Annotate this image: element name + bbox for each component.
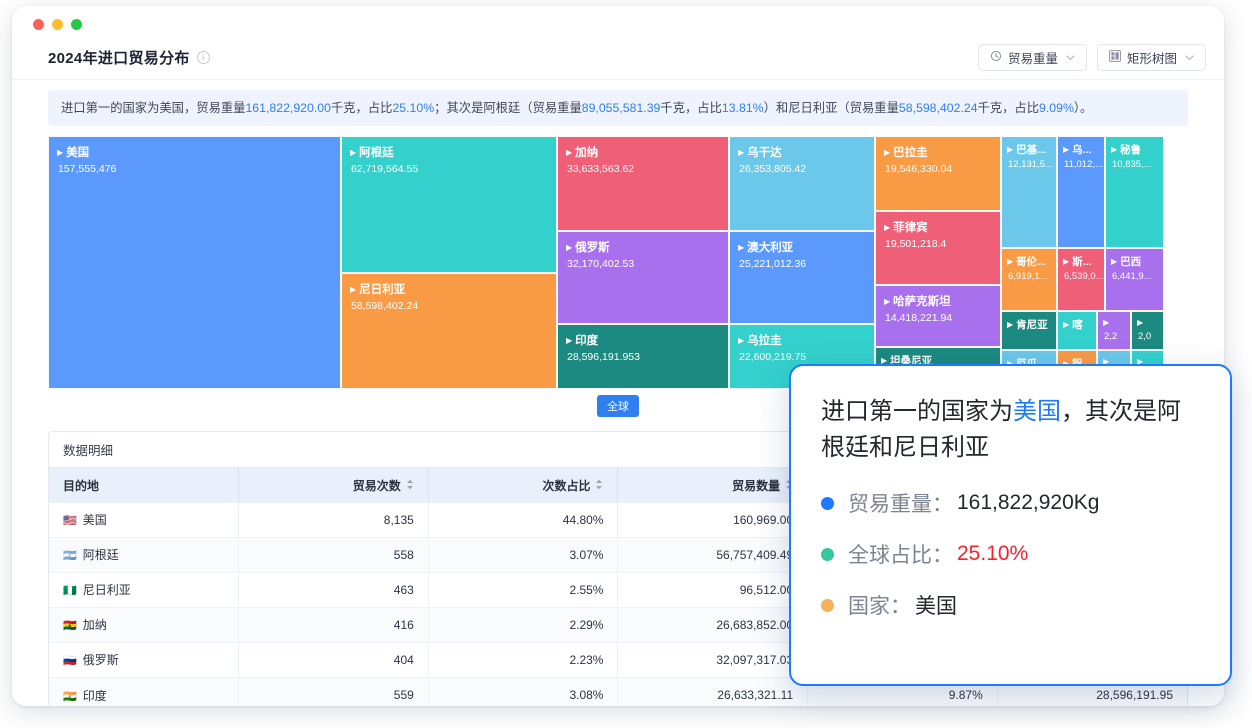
treemap-tile-value: 10,835,... xyxy=(1106,157,1163,170)
treemap-tile[interactable]: ▶乌干达26,353,805.42 xyxy=(729,136,875,231)
tooltip-title-highlight: 美国 xyxy=(1013,398,1061,425)
treemap-tile[interactable]: ▶乌...11,012,... xyxy=(1057,136,1105,248)
treemap-tile-label: ▶乌干达 xyxy=(730,137,874,160)
banner-value-3: 89,055,581.39 xyxy=(582,101,661,115)
expand-triangle-icon[interactable]: ▶ xyxy=(1137,318,1143,327)
treemap-tile[interactable]: ▶巴西6,441,9... xyxy=(1105,248,1164,311)
tooltip-metric-row: 全球占比：25.10% xyxy=(821,539,1200,569)
treemap-tile-label: ▶秘鲁 xyxy=(1106,137,1163,157)
treemap-tile-value: 26,353,805.42 xyxy=(730,160,874,175)
cell-count-pct: 2.29% xyxy=(428,607,618,642)
cell-trade-count: 8,135 xyxy=(239,502,429,537)
banner-seg-7: ）。 xyxy=(1074,101,1092,115)
expand-triangle-icon[interactable]: ▶ xyxy=(350,285,356,294)
expand-triangle-icon[interactable]: ▶ xyxy=(1063,257,1069,266)
treemap-tile-label: ▶喀 xyxy=(1058,312,1096,332)
treemap-tile-label: ▶阿根廷 xyxy=(342,137,556,160)
minimize-window-button[interactable] xyxy=(52,19,63,30)
tooltip-bullet-icon xyxy=(821,548,834,561)
treemap-tile-label: ▶ xyxy=(1098,312,1130,329)
cell-destination: 🇮🇳印度 xyxy=(49,677,239,706)
banner-seg-6: 千克，占比 xyxy=(978,101,1040,115)
table-column-header[interactable]: 贸易数量 xyxy=(618,468,808,502)
treemap-tile[interactable]: ▶斯...6,539,0... xyxy=(1057,248,1105,311)
close-window-button[interactable] xyxy=(33,19,44,30)
time-icon xyxy=(990,50,1002,65)
treemap-tile-value: 14,418,221.94 xyxy=(876,309,1000,324)
banner-value-4: 13.81% xyxy=(722,101,764,115)
treemap-tile[interactable]: ▶巴拉圭19,546,330.04 xyxy=(875,136,1001,211)
treemap-tile-label: ▶ xyxy=(1132,312,1163,329)
tooltip-metric-value: 25.10% xyxy=(957,542,1028,566)
banner-value-5: 58,598,402.24 xyxy=(899,101,978,115)
banner-seg-2: 千克，占比 xyxy=(331,101,393,115)
cell-destination: 🇬🇭加纳 xyxy=(49,607,239,642)
chart-type-selector-label: 矩形树图 xyxy=(1127,48,1177,67)
cell-trade-count: 559 xyxy=(239,677,429,706)
cell-trade-count: 558 xyxy=(239,537,429,572)
treemap-tile-label: ▶印度 xyxy=(558,325,728,348)
country-flag-icon: 🇬🇭 xyxy=(63,620,77,632)
chart-tooltip: 进口第一的国家为美国，其次是阿根廷和尼日利亚 贸易重量：161,822,920K… xyxy=(789,364,1232,686)
treemap-tile[interactable]: ▶印度28,596,191.953 xyxy=(557,324,729,389)
expand-triangle-icon[interactable]: ▶ xyxy=(1007,257,1013,266)
treemap-tile-label: ▶加纳 xyxy=(558,137,728,160)
treemap-tile[interactable]: ▶阿根廷62,719,564.55 xyxy=(341,136,557,273)
treemap-tile[interactable]: ▶尼日利亚58,598,402.24 xyxy=(341,273,557,389)
country-flag-icon: 🇦🇷 xyxy=(63,550,77,562)
expand-triangle-icon[interactable]: ▶ xyxy=(1111,257,1117,266)
tooltip-bullet-icon xyxy=(821,497,834,510)
treemap-tile-value: 2,2 xyxy=(1098,329,1130,342)
cell-trade-count: 463 xyxy=(239,572,429,607)
tooltip-metric-list: 贸易重量：161,822,920Kg全球占比：25.10%国家：美国 xyxy=(821,488,1200,620)
treemap-tile[interactable]: ▶秘鲁10,835,... xyxy=(1105,136,1164,248)
banner-value-1: 161,822,920.00 xyxy=(245,101,330,115)
treemap-tile-value: 62,719,564.55 xyxy=(342,160,556,175)
expand-triangle-icon[interactable]: ▶ xyxy=(566,243,572,252)
treemap-tile[interactable]: ▶巴基...12,131,5... xyxy=(1001,136,1057,248)
treemap-tile-value: 33,633,563.62 xyxy=(558,160,728,175)
treemap-tile-value: 22,600,219.75 xyxy=(730,348,874,363)
country-flag-icon: 🇷🇺 xyxy=(63,655,77,667)
treemap-tile-label: ▶尼日利亚 xyxy=(342,274,556,297)
treemap-icon xyxy=(1109,50,1121,65)
expand-triangle-icon[interactable]: ▶ xyxy=(1007,320,1013,329)
treemap-tile-label: ▶澳大利亚 xyxy=(730,232,874,255)
expand-triangle-icon[interactable]: ▶ xyxy=(350,148,356,157)
banner-seg-4: 千克，占比 xyxy=(660,101,722,115)
banner-value-2: 25.10% xyxy=(392,101,434,115)
country-flag-icon: 🇳🇬 xyxy=(63,585,77,597)
insight-banner: 进口第一的国家为美国，贸易重量161,822,920.00千克，占比25.10%… xyxy=(48,90,1188,126)
legend-item-global[interactable]: 全球 xyxy=(597,395,639,417)
cell-destination: 🇳🇬尼日利亚 xyxy=(49,572,239,607)
treemap-tile[interactable]: ▶2,2 xyxy=(1097,311,1131,350)
tooltip-metric-row: 贸易重量：161,822,920Kg xyxy=(821,488,1200,518)
cell-count-pct: 44.80% xyxy=(428,502,618,537)
treemap-tile-value: 157,555,476 xyxy=(49,160,340,175)
cell-trade-count: 416 xyxy=(239,607,429,642)
page-title: 2024年进口贸易分布 xyxy=(48,47,190,68)
treemap-tile[interactable]: ▶美国157,555,476 xyxy=(48,136,341,389)
chart-type-selector[interactable]: 矩形树图 xyxy=(1097,44,1206,71)
tooltip-bullet-icon xyxy=(821,599,834,612)
tooltip-metric-label: 全球占比： xyxy=(848,539,953,569)
banner-seg-3: ；其次是阿根廷（贸易重量 xyxy=(434,101,582,115)
cell-trade-qty: 26,683,852.00 xyxy=(618,607,808,642)
tooltip-metric-row: 国家：美国 xyxy=(821,590,1200,620)
expand-triangle-icon[interactable]: ▶ xyxy=(566,336,572,345)
table-column-header: 目的地 xyxy=(49,468,239,502)
cell-destination: 🇺🇸美国 xyxy=(49,502,239,537)
cell-count-pct: 3.08% xyxy=(428,677,618,706)
tooltip-metric-value: 美国 xyxy=(915,590,957,620)
treemap-tile-label: ▶巴基... xyxy=(1002,137,1056,157)
treemap-tile[interactable]: ▶哥伦...6,919,1... xyxy=(1001,248,1057,311)
treemap-tile[interactable]: ▶肯尼亚 xyxy=(1001,311,1057,350)
banner-value-6: 9.09% xyxy=(1039,101,1074,115)
chevron-down-icon xyxy=(1185,53,1194,63)
treemap-tile-label: ▶乌... xyxy=(1058,137,1104,157)
chevron-down-icon xyxy=(1066,53,1075,63)
treemap-tile-label: ▶美国 xyxy=(49,137,340,160)
tooltip-metric-value: 161,822,920Kg xyxy=(957,491,1099,515)
expand-triangle-icon[interactable]: ▶ xyxy=(57,148,63,157)
cell-trade-qty: 56,757,409.49 xyxy=(618,537,808,572)
country-flag-icon: 🇮🇳 xyxy=(63,691,77,703)
expand-triangle-icon[interactable]: ▶ xyxy=(1111,145,1117,154)
treemap-tile[interactable]: ▶澳大利亚25,221,012.36 xyxy=(729,231,875,324)
treemap-tile-label: ▶巴西 xyxy=(1106,249,1163,269)
treemap-tile-value: 19,546,330.04 xyxy=(876,160,1000,175)
treemap-tile-value: 2,0 xyxy=(1132,329,1163,342)
treemap-tile-value: 58,598,402.24 xyxy=(342,297,556,312)
treemap-tile-value: 6,441,9... xyxy=(1106,269,1163,282)
expand-triangle-icon[interactable]: ▶ xyxy=(566,148,572,157)
metric-selector[interactable]: 贸易重量 xyxy=(978,44,1087,71)
cell-trade-qty: 26,633,321.11 xyxy=(618,677,808,706)
expand-triangle-icon[interactable]: ▶ xyxy=(884,148,890,157)
treemap-tile[interactable]: ▶加纳33,633,563.62 xyxy=(557,136,729,231)
cell-trade-count: 404 xyxy=(239,642,429,677)
cell-destination: 🇦🇷阿根廷 xyxy=(49,537,239,572)
cell-trade-qty: 96,512.00 xyxy=(618,572,808,607)
expand-triangle-icon[interactable]: ▶ xyxy=(738,336,744,345)
sort-toggle-icon[interactable] xyxy=(595,479,603,492)
window-traffic-lights xyxy=(33,19,82,30)
treemap-tile-label: ▶哈萨克斯坦 xyxy=(876,286,1000,309)
treemap-tile-label: ▶哥伦... xyxy=(1002,249,1056,269)
expand-triangle-icon[interactable]: ▶ xyxy=(738,148,744,157)
treemap-tile[interactable]: ▶俄罗斯32,170,402.53 xyxy=(557,231,729,324)
cell-trade-qty: 160,969.00 xyxy=(618,502,808,537)
treemap-tile-value: 32,170,402.53 xyxy=(558,255,728,270)
window-titlebar xyxy=(12,6,1224,36)
expand-triangle-icon[interactable]: ▶ xyxy=(884,223,890,232)
table-column-header[interactable]: 次数占比 xyxy=(428,468,618,502)
treemap-tile-value: 6,919,1... xyxy=(1002,269,1056,282)
expand-triangle-icon[interactable]: ▶ xyxy=(738,243,744,252)
treemap-tile-value: 11,012,... xyxy=(1058,157,1104,170)
tooltip-metric-label: 国家： xyxy=(848,590,911,620)
treemap-tile-label: ▶俄罗斯 xyxy=(558,232,728,255)
cell-count-pct: 2.55% xyxy=(428,572,618,607)
tooltip-metric-label: 贸易重量： xyxy=(848,488,953,518)
country-flag-icon: 🇺🇸 xyxy=(63,515,77,527)
banner-seg-5: ）和尼日利亚（贸易重量 xyxy=(764,101,899,115)
treemap-tile[interactable]: ▶喀 xyxy=(1057,311,1097,350)
expand-triangle-icon[interactable]: ▶ xyxy=(1007,145,1013,154)
expand-triangle-icon[interactable]: ▶ xyxy=(1103,318,1109,327)
expand-triangle-icon[interactable]: ▶ xyxy=(1063,145,1069,154)
expand-triangle-icon[interactable]: ▶ xyxy=(1063,320,1069,329)
treemap-tile-value: 12,131,5... xyxy=(1002,157,1056,170)
expand-triangle-icon[interactable]: ▶ xyxy=(884,297,890,306)
treemap-tile[interactable]: ▶菲律宾19,501,218.4 xyxy=(875,211,1001,285)
cell-count-pct: 3.07% xyxy=(428,537,618,572)
treemap-tile-value: 25,221,012.36 xyxy=(730,255,874,270)
treemap-tile-value: 6,539,0... xyxy=(1058,269,1104,282)
tooltip-title: 进口第一的国家为美国，其次是阿根廷和尼日利亚 xyxy=(821,394,1200,466)
treemap-chart[interactable]: ▶美国157,555,476▶阿根廷62,719,564.55▶尼日利亚58,5… xyxy=(48,136,1188,389)
treemap-tile-label: ▶巴拉圭 xyxy=(876,137,1000,160)
treemap-tile-value: 28,596,191.953 xyxy=(558,348,728,363)
card-header: 2024年进口贸易分布 i 贸易重量 矩形树图 xyxy=(12,36,1224,80)
treemap-tile-label: ▶菲律宾 xyxy=(876,212,1000,235)
table-column-header[interactable]: 贸易次数 xyxy=(239,468,429,502)
zoom-window-button[interactable] xyxy=(71,19,82,30)
metric-selector-label: 贸易重量 xyxy=(1008,48,1058,67)
sort-toggle-icon[interactable] xyxy=(406,479,414,492)
cell-count-pct: 2.23% xyxy=(428,642,618,677)
tooltip-title-a: 进口第一的国家为 xyxy=(821,398,1013,425)
treemap-tile[interactable]: ▶2,0 xyxy=(1131,311,1164,350)
treemap-tile[interactable]: ▶哈萨克斯坦14,418,221.94 xyxy=(875,285,1001,347)
treemap-tile-value: 19,501,218.4 xyxy=(876,235,1000,250)
treemap-tile-label: ▶肯尼亚 xyxy=(1002,312,1056,332)
info-icon[interactable]: i xyxy=(197,51,210,64)
cell-trade-qty: 32,097,317.03 xyxy=(618,642,808,677)
cell-destination: 🇷🇺俄罗斯 xyxy=(49,642,239,677)
treemap-tile-label: ▶斯... xyxy=(1058,249,1104,269)
treemap-tile-label: ▶乌拉圭 xyxy=(730,325,874,348)
banner-seg-1: 进口第一的国家为美国，贸易重量 xyxy=(61,101,245,115)
